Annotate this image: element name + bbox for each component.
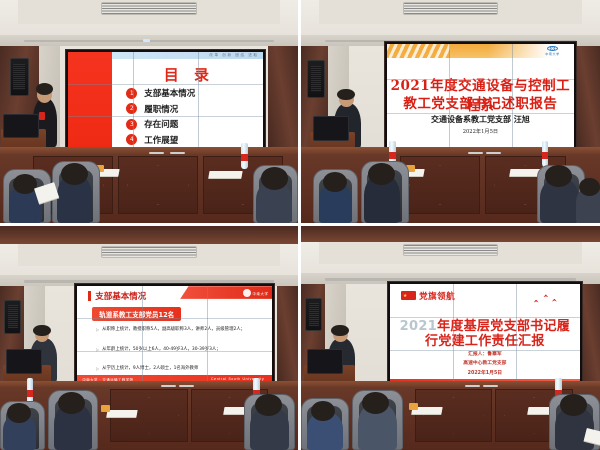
bird-icon <box>552 299 557 302</box>
video-wall: 中南大学 2021年度交通设备与控制工程系 教工党支部书记述职报告 交通设备系教… <box>385 42 576 149</box>
speaker-box <box>4 300 20 334</box>
toc-label: 工作展望 <box>144 134 178 146</box>
screen-mullion <box>77 318 273 319</box>
birds-decoration <box>531 292 561 306</box>
screen-mullion <box>449 44 450 147</box>
conference-room-scene: 党旗领航 2021年度基层党支部书记履 行党建工作责任汇报 汇报人：鲁寨军 <box>301 226 600 450</box>
soffit-strip <box>24 280 274 282</box>
slide-meta-org: 高速中心教工党支部 <box>390 359 580 368</box>
video-wall: 改革 创新 团结 进取 目 录 1 支部基本情况 2 履职情况 <box>66 50 266 150</box>
podium-monitor <box>313 116 349 141</box>
slide-date: 2022年1月5日 <box>387 128 574 135</box>
screen-mullion <box>390 317 580 318</box>
toc-list: 1 支部基本情况 2 履职情况 3 存在问题 <box>126 88 195 149</box>
university-logo: 中南大学 <box>542 46 563 56</box>
presenter-hair <box>331 325 348 336</box>
university-logo: 中南大学 <box>243 289 269 297</box>
desk-handle <box>170 152 185 155</box>
desk-handle <box>161 385 176 387</box>
desk-papers <box>510 169 541 176</box>
presenter-hair <box>36 83 53 95</box>
air-conditioner-vent <box>101 246 196 258</box>
video-wall: 中南大学 支部基本情况 轨道系教工支部党员12名 ▷ 从职称上统计，教授职称5人… <box>75 284 275 385</box>
speaker-box <box>307 60 325 98</box>
video-wall-screen: 中南大学 支部基本情况 轨道系教工支部党员12名 ▷ 从职称上统计，教授职称5人… <box>77 286 273 383</box>
screen-mullion <box>68 116 264 117</box>
bird-icon <box>543 294 548 297</box>
audience-head <box>545 165 572 187</box>
audience-head <box>368 163 395 185</box>
screen-mullion <box>68 84 264 85</box>
screen-mullion <box>516 284 517 383</box>
slide-meta-date: 2022年1月5日 <box>390 369 580 378</box>
slide-brand-text: 党旗领航 <box>419 290 455 302</box>
conference-room-scene: 中南大学 2021年度交通设备与控制工程系 教工党支部书记述职报告 交通设备系教… <box>301 0 600 223</box>
university-seal-icon <box>547 46 558 51</box>
audience-head <box>255 394 282 416</box>
slide-meta-reporter: 汇报人：鲁寨军 <box>390 350 580 359</box>
desk-front-panel <box>118 156 198 214</box>
slide-top-bar: 改革 创新 团结 进取 <box>112 52 264 59</box>
bullet-arrow-icon: ▷ <box>96 328 99 332</box>
desk-front-panel <box>415 389 493 442</box>
slide-title-line2: 教工党支部书记述职报告 <box>387 92 574 112</box>
slide-title-report: 中南大学 2021年度交通设备与控制工程系 教工党支部书记述职报告 交通设备系教… <box>387 44 574 147</box>
water-bottle <box>241 143 248 170</box>
slide-branch-overview: 中南大学 支部基本情况 轨道系教工支部党员12名 ▷ 从职称上统计，教授职称5人… <box>77 286 273 383</box>
desk-microphone <box>409 403 418 410</box>
bullet-item: ▷ 从学历上统计，9人博士，2人硕士，1名海外教师 <box>96 367 262 372</box>
presenter-scarf <box>39 112 45 121</box>
bird-icon <box>534 300 539 303</box>
air-conditioner-vent <box>403 244 499 256</box>
conference-room-scene: 改革 创新 团结 进取 目 录 1 支部基本情况 2 履职情况 <box>0 0 298 223</box>
screen-mullion <box>198 52 199 148</box>
video-wall-screen: 党旗领航 2021年度基层党支部书记履 行党建工作责任汇报 汇报人：鲁寨军 <box>390 284 580 383</box>
ceiling <box>301 0 600 38</box>
led-indicator <box>143 39 150 42</box>
slide-title: 目 录 <box>115 64 264 85</box>
video-wall-screen: 中南大学 2021年度交通设备与控制工程系 教工党支部书记述职报告 交通设备系教… <box>387 44 574 147</box>
upper-wood-trim <box>301 226 600 242</box>
collage-panel-top-right: 中南大学 2021年度交通设备与控制工程系 教工党支部书记述职报告 交通设备系教… <box>301 0 600 223</box>
desk-papers <box>208 171 242 178</box>
audience-head <box>560 394 587 416</box>
slide-table-of-contents: 改革 创新 团结 进取 目 录 1 支部基本情况 2 履职情况 <box>68 52 264 148</box>
desk-handle <box>468 152 483 155</box>
podium-monitor <box>6 349 42 374</box>
podium-monitor <box>307 349 343 374</box>
slide-header-shape: 中南大学 <box>180 286 272 299</box>
screen-mullion <box>133 52 134 148</box>
water-bottle <box>542 141 549 168</box>
bullet-text: 从职称上统计，教授职称5人，副高级职称3人，讲师2人，员级管理2人； <box>102 328 245 333</box>
screen-mullion <box>77 351 273 352</box>
toc-item: 4 工作展望 <box>126 134 195 145</box>
party-flag-icon <box>401 291 416 300</box>
toc-item: 1 支部基本情况 <box>126 88 195 99</box>
toc-label: 存在问题 <box>144 118 178 130</box>
screen-mullion <box>453 284 454 383</box>
screen-mullion <box>512 44 513 147</box>
desk-handle <box>465 385 480 387</box>
audience-head <box>58 392 85 414</box>
toc-label: 履职情况 <box>144 103 178 115</box>
toc-item: 3 存在问题 <box>126 119 195 130</box>
collage-panel-bottom-right: 党旗领航 2021年度基层党支部书记履 行党建工作责任汇报 汇报人：鲁寨军 <box>301 226 600 450</box>
screen-mullion <box>387 113 574 114</box>
speaker-box <box>10 58 29 96</box>
air-conditioner-vent <box>101 2 196 15</box>
audience-head <box>61 163 88 185</box>
bullet-arrow-icon: ▷ <box>96 367 99 371</box>
slide-topbar-text: 改革 创新 团结 进取 <box>209 53 258 58</box>
slide-section-heading: 支部基本情况 <box>88 290 146 302</box>
slide-party-report: 党旗领航 2021年度基层党支部书记履 行党建工作责任汇报 汇报人：鲁寨军 <box>390 284 580 383</box>
university-seal-icon <box>243 289 251 297</box>
bullet-item: ▷ 从职称上统计，教授职称5人，副高级职称3人，讲师2人，员级管理2人； <box>96 328 262 333</box>
university-logo-name: 中南大学 <box>545 52 559 56</box>
upper-wood-trim <box>0 226 298 244</box>
audience-head <box>323 172 347 192</box>
heading-text: 支部基本情况 <box>95 290 146 302</box>
desk-microphone <box>101 405 110 412</box>
audience-head <box>311 401 335 421</box>
university-logo-name: 中南大学 <box>253 291 269 296</box>
screen-mullion <box>390 350 580 351</box>
bullet-text: 从学历上统计，9人博士，2人硕士，1名海外教师 <box>102 367 198 372</box>
slide-subtitle: 交通设备系教工党支部 汪旭 <box>387 114 574 125</box>
collage-panel-bottom-left: 中南大学 支部基本情况 轨道系教工支部党员12名 ▷ 从职称上统计，教授职称5人… <box>0 226 298 450</box>
wall-wood-right <box>579 284 600 396</box>
desk-handle <box>179 385 194 387</box>
toc-label: 支部基本情况 <box>144 87 195 99</box>
video-wall: 党旗领航 2021年度基层党支部书记履 行党建工作责任汇报 汇报人：鲁寨军 <box>388 282 582 385</box>
desk-surface <box>301 147 600 154</box>
screen-mullion <box>387 79 574 80</box>
ceiling <box>0 0 298 38</box>
heading-accent-bar <box>88 291 91 301</box>
speaker-box <box>305 298 321 332</box>
photo-collage: 改革 创新 团结 进取 目 录 1 支部基本情况 2 履职情况 <box>0 0 600 450</box>
presenter-hair <box>33 325 50 336</box>
slide-title-line2: 行党建工作责任汇报 <box>390 330 580 349</box>
conference-room-scene: 中南大学 支部基本情况 轨道系教工支部党员12名 ▷ 从职称上统计，教授职称5人… <box>0 226 298 450</box>
video-wall-screen: 改革 创新 团结 进取 目 录 1 支部基本情况 2 履职情况 <box>68 52 264 148</box>
desk-handle <box>486 152 501 155</box>
screen-mullion <box>142 286 143 383</box>
slide-meta: 汇报人：鲁寨军 高速中心教工党支部 2022年1月5日 <box>390 350 580 377</box>
air-conditioner-vent <box>403 2 499 15</box>
soffit-strip <box>325 278 576 280</box>
desk-handle <box>483 385 498 387</box>
podium-monitor <box>3 114 39 139</box>
screen-mullion <box>207 286 208 383</box>
collage-panel-top-left: 改革 创新 团结 进取 目 录 1 支部基本情况 2 履职情况 <box>0 0 298 223</box>
desk-handle <box>149 152 164 155</box>
slide-red-block <box>68 52 112 148</box>
audience-head <box>261 167 288 189</box>
toc-item: 2 履职情况 <box>126 103 195 114</box>
desk-papers <box>107 410 138 417</box>
slide-brand: 党旗领航 <box>401 290 455 302</box>
